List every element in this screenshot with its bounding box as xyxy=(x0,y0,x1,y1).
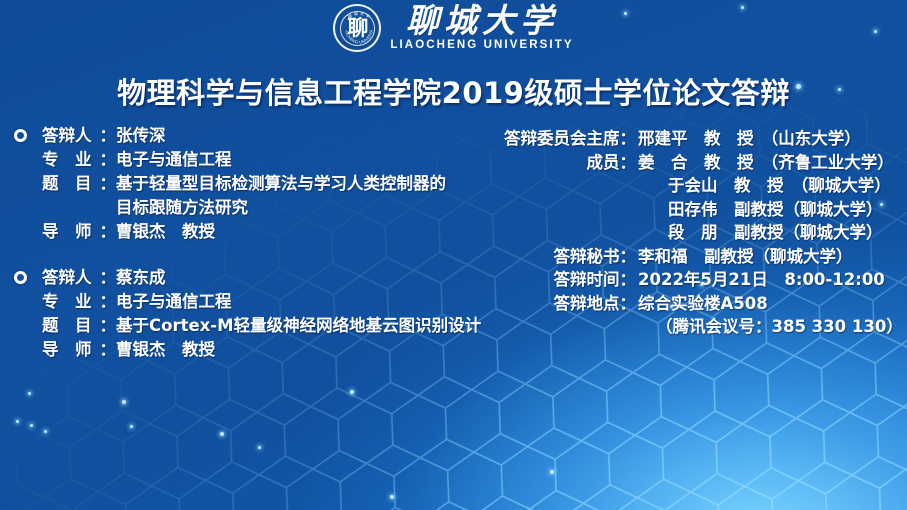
defense-time-row: 答辩时间： 2022年5月21日 8:00-12:00 xyxy=(490,268,902,292)
info-value: 蔡东成 xyxy=(116,266,484,290)
committee-label: 成员： xyxy=(490,151,638,175)
secretary-label: 答辩秘书： xyxy=(490,245,638,269)
presentation-slide: 聊 城 大 学 LIAOCHENG UNIVERSITY 聊 聊城大学 LIAO… xyxy=(0,0,907,510)
info-label: 答辩人： xyxy=(42,124,116,148)
info-label: 专 业： xyxy=(42,290,116,314)
info-value: 电子与通信工程 xyxy=(116,290,484,314)
committee-row: 于会山 教 授 （聊城大学） xyxy=(490,174,902,198)
info-row: 导 师： 曹银杰 教授 xyxy=(42,338,484,362)
committee-label: 答辩委员会主席： xyxy=(490,127,638,151)
particle-dot xyxy=(44,430,47,433)
info-row: 题 目： 基于轻量型目标检测算法与学习人类控制器的 xyxy=(42,172,484,196)
info-row: 答辩人： 蔡东成 xyxy=(42,266,484,290)
info-row: 题 目： 基于Cortex-M轻量级神经网络地基云图识别设计 xyxy=(42,314,484,338)
particle-dot xyxy=(16,420,19,423)
info-value: 电子与通信工程 xyxy=(116,148,484,172)
info-row: 专 业： 电子与通信工程 xyxy=(42,148,484,172)
defense-time-label: 答辩时间： xyxy=(490,268,638,292)
meeting-number-row: （腾讯会议号：385 330 130） xyxy=(490,315,902,339)
defendant-entry: 答辩人： 蔡东成 专 业： 电子与通信工程 题 目： 基于Cortex-M轻量级… xyxy=(14,266,484,362)
particle-dot xyxy=(28,392,31,395)
defendant-entry: 答辩人： 张传深 专 业： 电子与通信工程 题 目： 基于轻量型目标检测算法与学… xyxy=(14,124,484,244)
defense-location-value: 综合实验楼A508 xyxy=(638,292,902,316)
committee-row: 段 朋 副教授（聊城大学） xyxy=(490,221,902,245)
secretary-value: 李和福 副教授（聊城大学） xyxy=(638,245,902,269)
info-label: 导 师： xyxy=(42,220,116,244)
defendants-column: 答辩人： 张传深 专 业： 电子与通信工程 题 目： 基于轻量型目标检测算法与学… xyxy=(14,124,484,384)
particle-dot xyxy=(130,425,133,428)
defense-location-row: 答辩地点： 综合实验楼A508 xyxy=(490,292,902,316)
info-row-continuation: 目标跟随方法研究 xyxy=(42,196,484,220)
logo-text-block: 聊城大学 LIAOCHENG UNIVERSITY xyxy=(390,4,573,51)
meeting-number-value: （腾讯会议号：385 330 130） xyxy=(638,315,903,339)
info-label: 题 目： xyxy=(42,314,116,338)
particle-dot xyxy=(220,432,224,436)
committee-row: 田存伟 副教授（聊城大学） xyxy=(490,198,902,222)
secretary-row: 答辩秘书： 李和福 副教授（聊城大学） xyxy=(490,245,902,269)
defense-location-label: 答辩地点： xyxy=(490,292,638,316)
university-seal-icon: 聊 城 大 学 LIAOCHENG UNIVERSITY 聊 xyxy=(333,4,381,52)
info-label: 导 师： xyxy=(42,338,116,362)
committee-value: 邢建平 教 授 （山东大学） xyxy=(638,127,902,151)
particle-dot xyxy=(122,400,126,404)
committee-row: 答辩委员会主席： 邢建平 教 授 （山东大学） xyxy=(490,127,902,151)
committee-value: 田存伟 副教授（聊城大学） xyxy=(638,198,902,222)
committee-value: 姜 合 教 授 （齐鲁工业大学） xyxy=(638,151,902,175)
info-value: 曹银杰 教授 xyxy=(116,338,484,362)
university-name-cn: 聊城大学 xyxy=(406,4,558,39)
particle-dot xyxy=(30,424,33,427)
committee-value: 段 朋 副教授（聊城大学） xyxy=(638,221,902,245)
info-value: 张传深 xyxy=(116,124,484,148)
info-value: 曹银杰 教授 xyxy=(116,220,484,244)
particle-dot xyxy=(258,446,261,449)
info-value: 基于轻量型目标检测算法与学习人类控制器的 xyxy=(116,172,484,196)
info-label: 专 业： xyxy=(42,148,116,172)
university-logo: 聊 城 大 学 LIAOCHENG UNIVERSITY 聊 聊城大学 LIAO… xyxy=(0,4,907,52)
university-name-en: LIAOCHENG UNIVERSITY xyxy=(390,40,573,52)
particle-dot xyxy=(390,495,394,499)
seal-center-glyph: 聊 xyxy=(335,17,379,38)
particle-dot xyxy=(350,390,354,394)
committee-column: 答辩委员会主席： 邢建平 教 授 （山东大学） 成员： 姜 合 教 授 （齐鲁工… xyxy=(490,127,902,339)
committee-value: 于会山 教 授 （聊城大学） xyxy=(638,174,902,198)
defendant-rows: 答辩人： 蔡东成 专 业： 电子与通信工程 题 目： 基于Cortex-M轻量级… xyxy=(42,266,484,362)
info-row: 专 业： 电子与通信工程 xyxy=(42,290,484,314)
defense-time-value: 2022年5月21日 8:00-12:00 xyxy=(638,268,902,292)
bullet-ring-icon xyxy=(14,129,27,142)
info-label: 题 目： xyxy=(42,172,116,196)
defendant-rows: 答辩人： 张传深 专 业： 电子与通信工程 题 目： 基于轻量型目标检测算法与学… xyxy=(42,124,484,244)
info-row: 答辩人： 张传深 xyxy=(42,124,484,148)
committee-row: 成员： 姜 合 教 授 （齐鲁工业大学） xyxy=(490,151,902,175)
page-title: 物理科学与信息工程学院2019级硕士学位论文答辩 xyxy=(0,70,907,112)
info-label: 答辩人： xyxy=(42,266,116,290)
particle-dot xyxy=(550,470,554,474)
info-row: 导 师： 曹银杰 教授 xyxy=(42,220,484,244)
info-value: 基于Cortex-M轻量级神经网络地基云图识别设计 xyxy=(116,314,484,338)
bullet-ring-icon xyxy=(14,271,27,284)
info-value: 目标跟随方法研究 xyxy=(116,196,484,220)
